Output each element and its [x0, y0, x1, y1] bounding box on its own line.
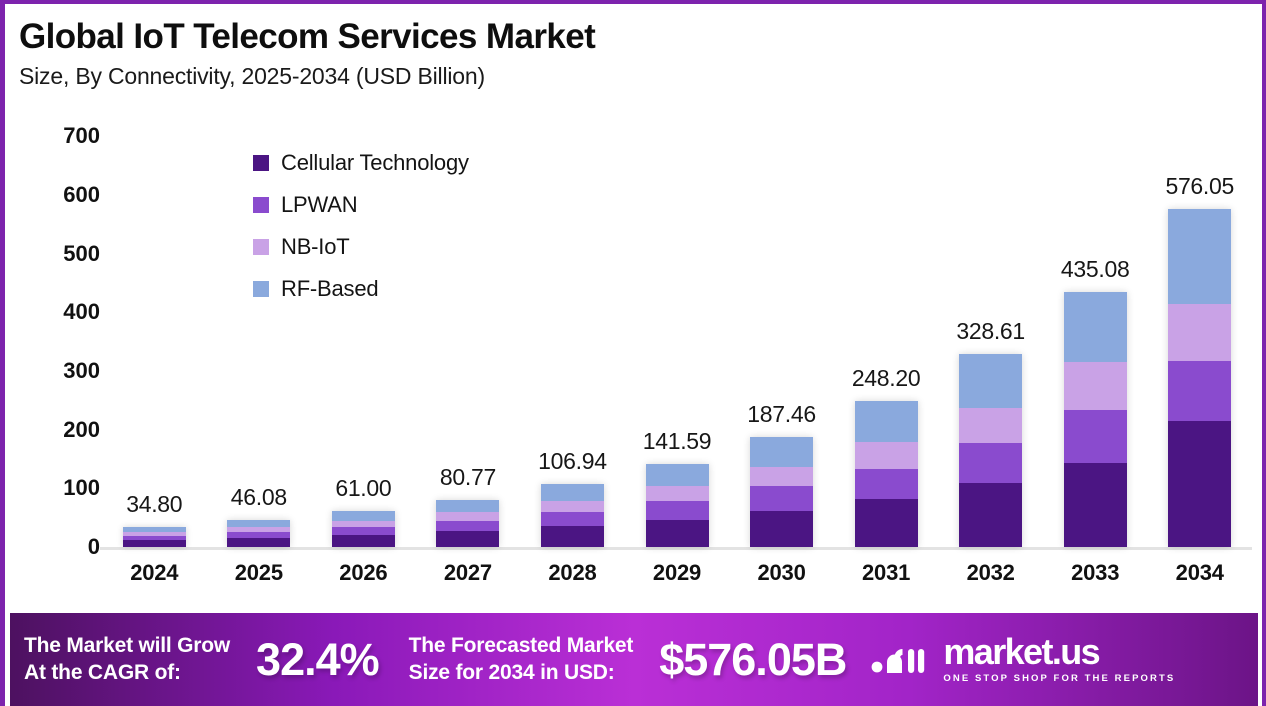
footer-banner: The Market will Grow At the CAGR of: 32.…	[10, 613, 1258, 706]
bar-segment-lpwan[interactable]	[436, 521, 499, 531]
market-us-logo-icon	[870, 640, 934, 680]
y-axis-tick: 200	[5, 417, 100, 443]
stacked-bar[interactable]: 435.08	[1064, 292, 1127, 547]
x-axis-tick: 2027	[416, 560, 521, 586]
legend-swatch-icon	[253, 155, 269, 171]
infographic-root: Global IoT Telecom Services Market Size,…	[0, 0, 1266, 706]
bar-total-label: 435.08	[1061, 256, 1130, 283]
bar-segment-cellular-technology[interactable]	[227, 538, 290, 547]
bar-slot: 576.05	[1147, 112, 1252, 547]
legend-label: RF-Based	[281, 276, 378, 302]
y-axis-tick: 700	[5, 123, 100, 149]
stacked-bar[interactable]: 187.46	[750, 437, 813, 547]
logo-tagline: ONE STOP SHOP FOR THE REPORTS	[943, 673, 1175, 684]
bar-segment-nb-iot[interactable]	[959, 408, 1022, 444]
bar-total-label: 61.00	[335, 475, 391, 502]
cagr-label: The Market will Grow At the CAGR of:	[24, 633, 230, 686]
header: Global IoT Telecom Services Market Size,…	[19, 18, 1219, 89]
bar-segment-cellular-technology[interactable]	[541, 526, 604, 547]
bar-segment-lpwan[interactable]	[646, 501, 709, 519]
bar-segment-nb-iot[interactable]	[646, 486, 709, 501]
y-axis-labels: 7006005004003002001000	[5, 112, 100, 552]
bar-total-label: 34.80	[126, 491, 182, 518]
y-axis-tick: 400	[5, 299, 100, 325]
bar-slot: 141.59	[625, 112, 730, 547]
x-axis-tick: 2034	[1147, 560, 1252, 586]
legend-swatch-icon	[253, 281, 269, 297]
legend-label: NB-IoT	[281, 234, 349, 260]
x-axis-tick: 2032	[938, 560, 1043, 586]
forecast-size-label-line2: Size for 2034 in USD:	[409, 660, 634, 686]
x-axis-tick: 2033	[1043, 560, 1148, 586]
bar-segment-cellular-technology[interactable]	[646, 520, 709, 547]
y-axis-tick: 600	[5, 182, 100, 208]
bar-segment-nb-iot[interactable]	[436, 512, 499, 521]
bar-segment-cellular-technology[interactable]	[855, 499, 918, 547]
cagr-label-line2: At the CAGR of:	[24, 660, 230, 686]
stacked-bar[interactable]: 248.20	[855, 401, 918, 547]
bar-segment-rf-based[interactable]	[855, 401, 918, 441]
stacked-bar[interactable]: 46.08	[227, 520, 290, 547]
market-us-logo-text: market.us ONE STOP SHOP FOR THE REPORTS	[943, 635, 1175, 683]
bar-segment-rf-based[interactable]	[541, 484, 604, 501]
bar-segment-lpwan[interactable]	[959, 443, 1022, 483]
cagr-value: 32.4%	[256, 634, 379, 686]
bar-segment-rf-based[interactable]	[646, 464, 709, 486]
x-axis-baseline	[100, 547, 1252, 550]
bar-total-label: 46.08	[231, 484, 287, 511]
x-axis-tick: 2030	[729, 560, 834, 586]
stacked-bar[interactable]: 61.00	[332, 511, 395, 547]
stacked-bar[interactable]: 141.59	[646, 464, 709, 547]
x-axis-labels: 2024202520262027202820292030203120322033…	[102, 560, 1252, 586]
bar-total-label: 187.46	[747, 401, 816, 428]
page-subtitle: Size, By Connectivity, 2025-2034 (USD Bi…	[19, 64, 1219, 89]
bar-slot: 328.61	[938, 112, 1043, 547]
bar-segment-rf-based[interactable]	[750, 437, 813, 467]
bar-slot: 435.08	[1043, 112, 1148, 547]
legend-item[interactable]: NB-IoT	[253, 226, 469, 268]
forecast-size-label-line1: The Forecasted Market	[409, 633, 634, 659]
x-axis-tick: 2024	[102, 560, 207, 586]
bar-segment-rf-based[interactable]	[227, 520, 290, 527]
bar-segment-nb-iot[interactable]	[855, 442, 918, 469]
bar-slot: 248.20	[834, 112, 939, 547]
bar-slot: 106.94	[520, 112, 625, 547]
legend-label: LPWAN	[281, 192, 357, 218]
stacked-bar[interactable]: 34.80	[123, 527, 186, 547]
x-axis-tick: 2029	[625, 560, 730, 586]
legend-item[interactable]: LPWAN	[253, 184, 469, 226]
bar-segment-cellular-technology[interactable]	[436, 531, 499, 547]
bar-segment-nb-iot[interactable]	[1064, 362, 1127, 409]
bar-segment-cellular-technology[interactable]	[959, 483, 1022, 547]
bar-segment-nb-iot[interactable]	[1168, 304, 1231, 361]
market-us-logo[interactable]: market.us ONE STOP SHOP FOR THE REPORTS	[870, 635, 1175, 683]
x-axis-tick: 2025	[207, 560, 312, 586]
bar-segment-cellular-technology[interactable]	[750, 511, 813, 547]
bar-total-label: 328.61	[956, 318, 1025, 345]
cagr-label-line1: The Market will Grow	[24, 633, 230, 659]
legend-item[interactable]: RF-Based	[253, 268, 469, 310]
bar-segment-lpwan[interactable]	[1064, 410, 1127, 463]
bar-total-label: 80.77	[440, 464, 496, 491]
bar-segment-cellular-technology[interactable]	[1064, 463, 1127, 547]
legend-swatch-icon	[253, 197, 269, 213]
x-axis-tick: 2031	[834, 560, 939, 586]
bar-total-label: 141.59	[643, 428, 712, 455]
bar-segment-nb-iot[interactable]	[541, 501, 604, 512]
bar-segment-rf-based[interactable]	[436, 500, 499, 513]
bar-total-label: 248.20	[852, 365, 921, 392]
stacked-bar[interactable]: 80.77	[436, 500, 499, 547]
chart-legend: Cellular TechnologyLPWANNB-IoTRF-Based	[253, 142, 469, 310]
x-axis-tick: 2026	[311, 560, 416, 586]
bar-segment-rf-based[interactable]	[332, 511, 395, 521]
y-axis-tick: 0	[5, 534, 100, 560]
x-axis-tick: 2028	[520, 560, 625, 586]
bar-segment-rf-based[interactable]	[959, 354, 1022, 407]
bar-segment-lpwan[interactable]	[332, 527, 395, 535]
bar-segment-rf-based[interactable]	[1168, 209, 1231, 304]
bar-segment-rf-based[interactable]	[1064, 292, 1127, 363]
y-axis-tick: 300	[5, 358, 100, 384]
bar-total-label: 576.05	[1165, 173, 1234, 200]
forecast-size-label: The Forecasted Market Size for 2034 in U…	[409, 633, 634, 686]
legend-item[interactable]: Cellular Technology	[253, 142, 469, 184]
chart-area: 7006005004003002001000 34.8046.0861.0080…	[5, 112, 1262, 612]
bar-segment-cellular-technology[interactable]	[1168, 421, 1231, 547]
legend-label: Cellular Technology	[281, 150, 469, 176]
bar-segment-lpwan[interactable]	[541, 512, 604, 526]
bar-segment-cellular-technology[interactable]	[332, 535, 395, 547]
stacked-bar[interactable]: 106.94	[541, 484, 604, 547]
legend-swatch-icon	[253, 239, 269, 255]
bar-segment-lpwan[interactable]	[855, 469, 918, 499]
bar-segment-lpwan[interactable]	[1168, 361, 1231, 421]
stacked-bar[interactable]: 576.05	[1168, 209, 1231, 547]
y-axis-tick: 500	[5, 241, 100, 267]
page-title: Global IoT Telecom Services Market	[19, 18, 1219, 57]
logo-name: market.us	[943, 635, 1175, 669]
bar-segment-nb-iot[interactable]	[750, 467, 813, 487]
y-axis-tick: 100	[5, 475, 100, 501]
bar-segment-cellular-technology[interactable]	[123, 540, 186, 547]
forecast-size-value: $576.05B	[659, 634, 846, 686]
bar-slot: 187.46	[729, 112, 834, 547]
stacked-bar[interactable]: 328.61	[959, 354, 1022, 547]
bar-slot: 34.80	[102, 112, 207, 547]
bar-segment-lpwan[interactable]	[750, 486, 813, 510]
bar-total-label: 106.94	[538, 448, 607, 475]
